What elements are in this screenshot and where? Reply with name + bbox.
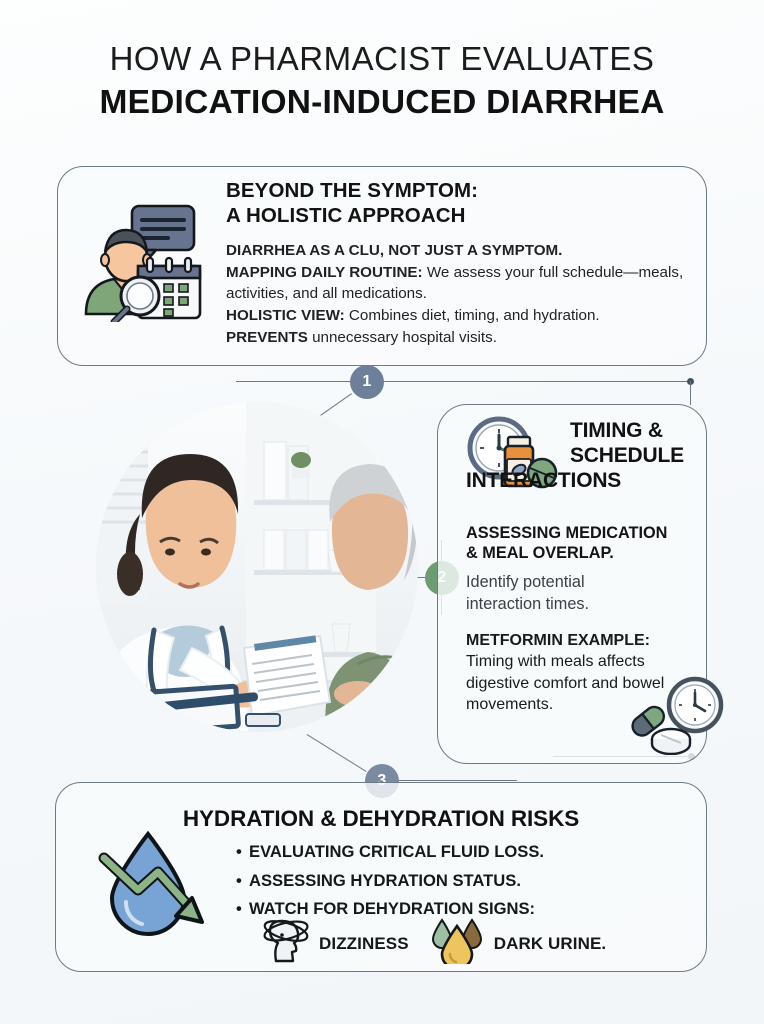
- clock-capsules-icon: [625, 675, 733, 755]
- card2-heading-line-1: TIMING &: [466, 418, 704, 443]
- connector-line-1-right: [382, 381, 690, 382]
- water-drop-declining-arrow-icon: [98, 828, 218, 938]
- connector-diagonal-3: [307, 734, 367, 772]
- sign-dizziness-label: DIZZINESS: [319, 934, 409, 954]
- step-badge-1: 1: [350, 365, 384, 399]
- card2-subheading-line-1: ASSESSING MEDICATION: [466, 523, 702, 543]
- card2-metformin-label: METFORMIN EXAMPLE:: [466, 632, 650, 649]
- card1-line-holistic-bold: HOLISTIC VIEW:: [226, 307, 345, 324]
- card3-signs-row: DIZZINESS DARK URINE.: [262, 918, 682, 969]
- card1-line-prevents-rest: unnecessary hospital visits.: [308, 329, 497, 346]
- connector-vertical-right: [690, 381, 691, 405]
- card2-heading: TIMING & SCHEDULE INTERACTIONS: [466, 418, 704, 494]
- card3-bullet-text: WATCH FOR DEHYDRATION SIGNS:: [249, 899, 535, 918]
- card1-line-holistic: HOLISTIC VIEW: Combines diet, timing, an…: [226, 305, 692, 327]
- card2-subheading: ASSESSING MEDICATION & MEAL OVERLAP.: [466, 523, 702, 563]
- card2-subheading-line-2: & MEAL OVERLAP.: [466, 543, 702, 563]
- card2-heading-line-3: INTERACTIONS: [466, 468, 704, 493]
- card3-bullet-text: ASSESSING HYDRATION STATUS.: [249, 871, 521, 890]
- sign-dark-urine: DARK URINE.: [429, 918, 607, 969]
- page-title: HOW A PHARMACIST EVALUATES MEDICATION-IN…: [0, 40, 764, 123]
- connector-line-1-left: [236, 381, 352, 382]
- bullet-dot-icon: •: [236, 895, 249, 924]
- sign-dark-urine-label: DARK URINE.: [494, 934, 607, 954]
- card2-paragraph-identify-line-1: Identify potential: [466, 572, 666, 594]
- card1-line-prevents: PREVENTS unnecessary hospital visits.: [226, 327, 692, 349]
- card2-paragraph-identify-line-2: interaction times.: [466, 594, 666, 616]
- card1-body: DIARRHEA AS A CLU, NOT JUST A SYMPTOM. M…: [226, 240, 692, 349]
- bullet-dot-icon: •: [236, 838, 249, 867]
- card1-line-prevents-bold: PREVENTS: [226, 329, 308, 346]
- sign-dizziness: DIZZINESS: [262, 919, 409, 968]
- card3-bullet-text: EVALUATING CRITICAL FLUID LOSS.: [249, 842, 544, 861]
- bullet-dot-icon: •: [236, 867, 249, 896]
- urine-droplets-icon: [429, 918, 485, 969]
- card1-heading-line-2: A HOLISTIC APPROACH: [226, 203, 692, 228]
- card3-bullet-item: •ASSESSING HYDRATION STATUS.: [236, 867, 636, 896]
- dizzy-head-icon: [262, 919, 310, 968]
- card3-heading: HYDRATION & DEHYDRATION RISKS: [55, 806, 707, 832]
- card3-bullet-item: •EVALUATING CRITICAL FLUID LOSS.: [236, 838, 636, 867]
- card1-heading-line-1: BEYOND THE SYMPTOM:: [226, 178, 692, 203]
- card1-line-mapping: MAPPING DAILY ROUTINE: We assess your fu…: [226, 262, 692, 305]
- card1-line-clue: DIARRHEA AS A CLU, NOT JUST A SYMPTOM.: [226, 240, 692, 262]
- card1-text-block: BEYOND THE SYMPTOM: A HOLISTIC APPROACH …: [226, 178, 692, 348]
- card3-bullet-list: •EVALUATING CRITICAL FLUID LOSS. •ASSESS…: [236, 838, 636, 924]
- card1-line-mapping-bold: MAPPING DAILY ROUTINE:: [226, 264, 423, 281]
- card1-line-holistic-rest: Combines diet, timing, and hydration.: [345, 307, 600, 324]
- card2-heading-line-2: SCHEDULE: [466, 443, 704, 468]
- title-line-2: MEDICATION-INDUCED DIARRHEA: [0, 83, 764, 123]
- person-speech-calendar-magnifier-icon: [80, 196, 206, 322]
- card2-paragraph-identify: Identify potential interaction times.: [466, 572, 666, 615]
- card1-line-clue-bold: DIARRHEA AS A CLU, NOT JUST A SYMPTOM.: [226, 242, 562, 259]
- title-line-1: HOW A PHARMACIST EVALUATES: [0, 40, 764, 79]
- infographic-page: HOW A PHARMACIST EVALUATES MEDICATION-IN…: [0, 0, 764, 1024]
- pharmacist-consulting-patient-photo: [96, 402, 418, 732]
